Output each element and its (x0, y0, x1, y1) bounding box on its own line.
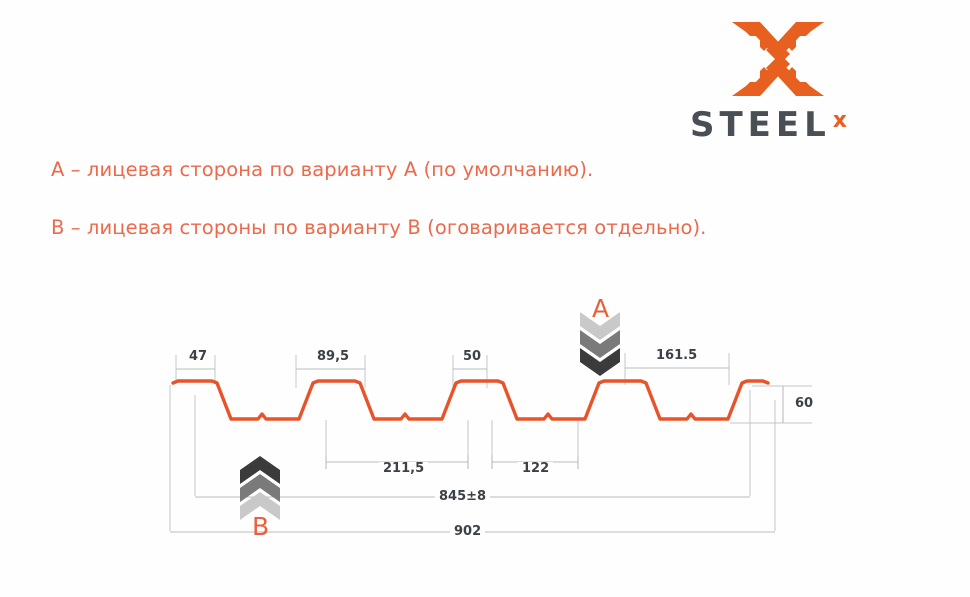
dimension-label-47: 47 (185, 350, 211, 363)
dimension-label-60: 60 (791, 397, 817, 410)
marker-label-b: B (252, 514, 269, 539)
dimension-label-211-5: 211,5 (379, 462, 428, 475)
dimension-label-845-pm-8: 845±8 (435, 490, 490, 503)
trapezoidal-profile-path (173, 381, 768, 419)
dimension-lines (170, 368, 783, 532)
drawing-page: STEEL x А – лицевая сторона по варианту … (0, 0, 970, 597)
profile-technical-drawing (0, 0, 970, 597)
dimension-label-161-5: 161.5 (652, 349, 701, 362)
dimension-label-89-5: 89,5 (313, 350, 353, 363)
dimension-label-122: 122 (518, 462, 553, 475)
marker-b-chevron-up-triple-icon (240, 456, 280, 520)
marker-label-a: A (592, 296, 609, 321)
dimension-label-50: 50 (459, 350, 485, 363)
dimension-label-902: 902 (450, 525, 485, 538)
